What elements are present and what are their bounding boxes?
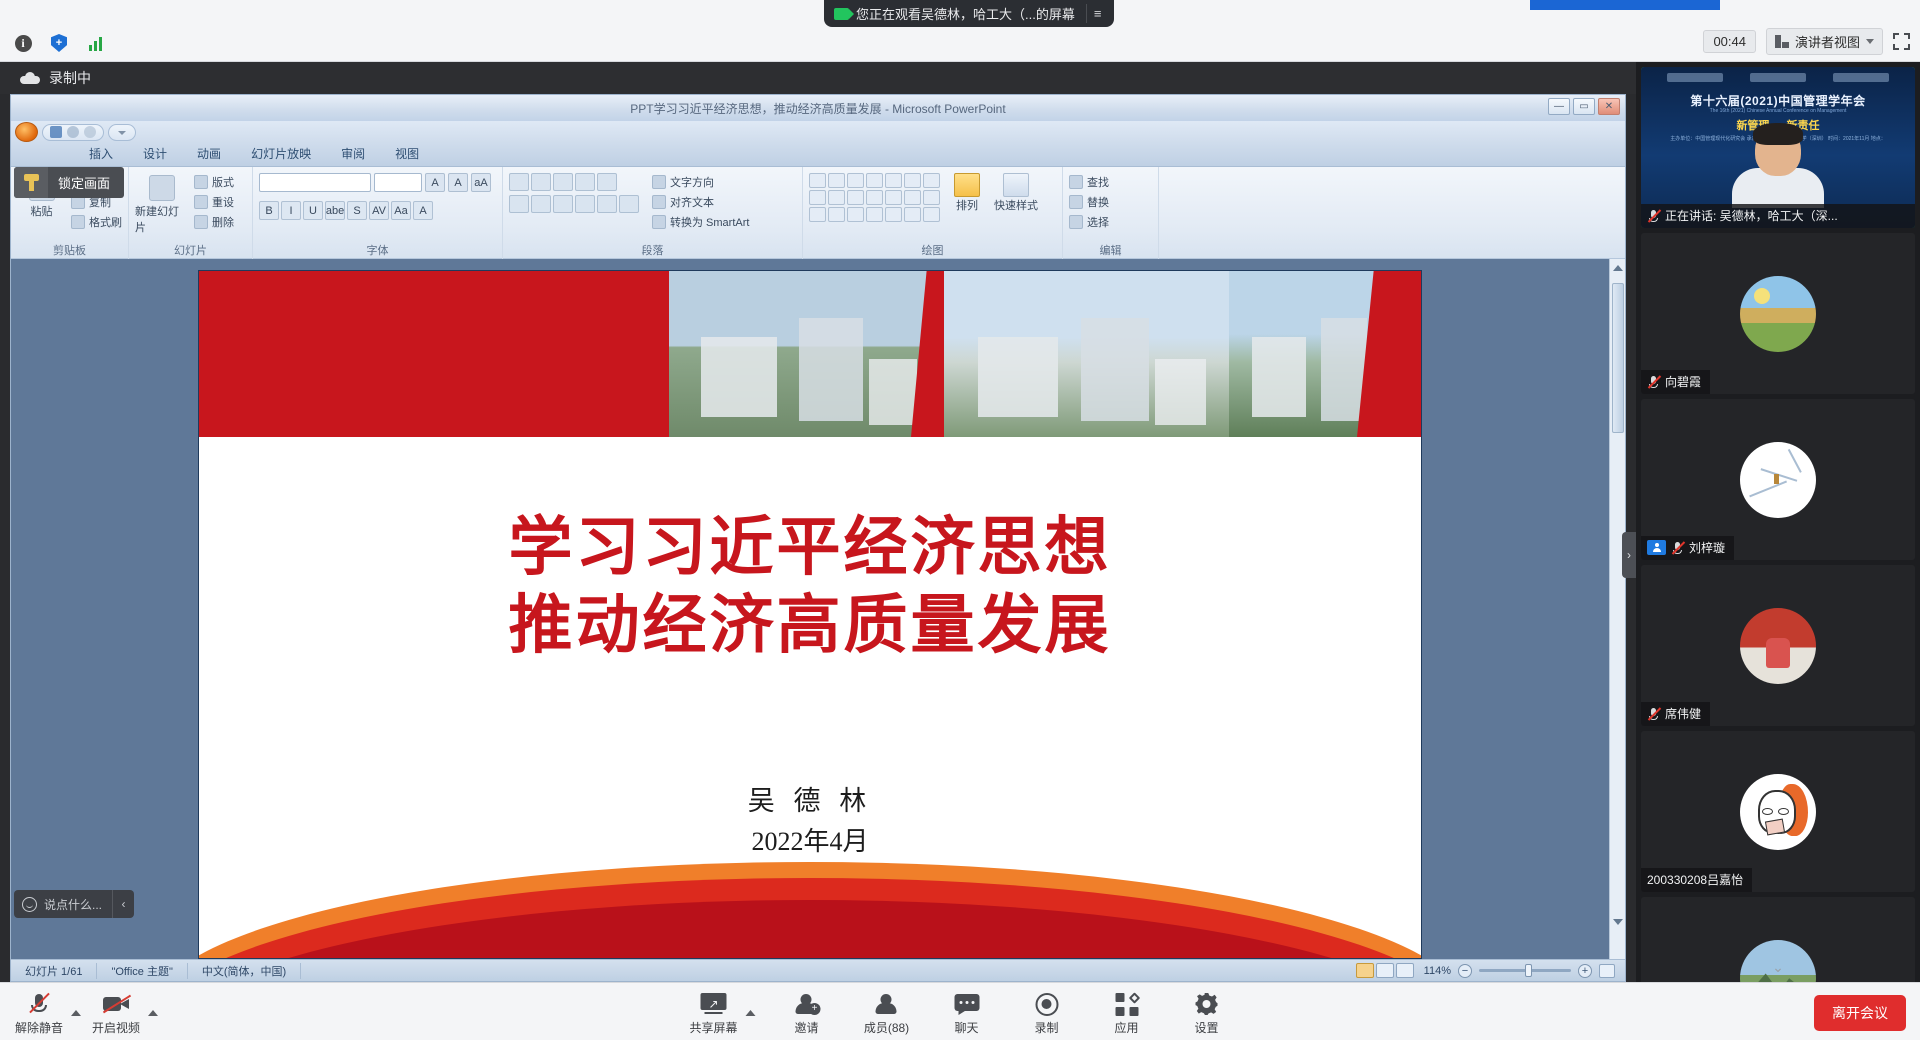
tab-insert[interactable]: 插入 xyxy=(75,142,127,166)
strikethrough-button[interactable]: abe xyxy=(325,201,345,220)
camera-off-icon xyxy=(102,992,130,1016)
quick-chat-collapse-icon[interactable]: ‹ xyxy=(112,890,134,918)
language-indicator[interactable]: 中文(简体，中国) xyxy=(188,963,301,979)
slide-title-line-2: 推动经济高质量发展 xyxy=(199,587,1421,665)
zoom-slider-knob[interactable] xyxy=(1525,964,1532,977)
brush-icon xyxy=(71,215,85,229)
avatar xyxy=(1740,276,1816,352)
lock-screen-label: 锁定画面 xyxy=(48,173,110,192)
settings-button[interactable]: 设置 xyxy=(1178,989,1236,1036)
view-mode-label: 演讲者视图 xyxy=(1795,32,1860,51)
banner-photo-1 xyxy=(669,271,939,437)
quick-access-toolbar xyxy=(11,121,1625,143)
shape-item[interactable] xyxy=(828,207,845,222)
powerpoint-title-bar: PPT学习习近平经济思想，推动经济高质量发展 - Microsoft Power… xyxy=(11,95,1625,121)
shape-item[interactable] xyxy=(866,190,883,205)
gallery-toggle-button[interactable]: › xyxy=(1622,532,1636,578)
slide-vertical-scrollbar[interactable] xyxy=(1609,259,1625,959)
delete-slide-button[interactable]: 删除 xyxy=(194,213,234,230)
zoom-bottom-toolbar: 解除静音 开启视频 ↗ 共享屏幕 xyxy=(0,982,1920,1040)
find-icon xyxy=(1069,175,1083,189)
screen-share-icon xyxy=(834,8,849,20)
participant-tile-active-speaker[interactable]: 第十六届(2021)中国管理学年会 The 16th (2021) Chines… xyxy=(1641,67,1915,228)
ribbon: 粘贴 剪切 复制 xyxy=(11,167,1625,259)
share-notification-bar: 您正在观看吴德林，哈工大（...的屏幕 ≡ xyxy=(824,0,1114,27)
maximize-button[interactable]: ▭ xyxy=(1573,98,1595,115)
select-label: 选择 xyxy=(1087,214,1109,230)
participant-name: 向碧霞 xyxy=(1665,373,1701,390)
underline-button[interactable]: U xyxy=(303,201,323,220)
shape-item[interactable] xyxy=(809,173,826,188)
arrange-icon xyxy=(954,173,980,197)
apps-button[interactable]: 应用 xyxy=(1098,989,1156,1036)
shape-item[interactable] xyxy=(904,173,921,188)
slide-title-line-1: 学习习近平经济思想 xyxy=(199,509,1421,587)
text-direction-button[interactable]: 文字方向 xyxy=(652,173,749,190)
clear-formatting-button[interactable]: aA xyxy=(471,173,491,192)
participants-label: 成员(88) xyxy=(864,1019,909,1036)
audio-options-chevron-icon[interactable] xyxy=(71,1010,81,1016)
new-slide-icon xyxy=(149,175,175,201)
convert-smartart-label: 转换为 SmartArt xyxy=(670,214,749,230)
zoom-control: 114% − + xyxy=(1424,964,1625,978)
video-options-chevron-icon[interactable] xyxy=(148,1010,158,1016)
shape-item[interactable] xyxy=(847,207,864,222)
participant-name-bar: 刘梓璇 xyxy=(1641,536,1734,560)
customize-qat-button[interactable] xyxy=(108,124,136,141)
slide-author: 吴 德 林 xyxy=(199,779,1421,818)
shape-item[interactable] xyxy=(904,190,921,205)
participant-tile[interactable]: 刘梓璇 xyxy=(1641,399,1915,560)
start-video-button[interactable]: 开启视频 xyxy=(87,989,145,1036)
leave-meeting-button[interactable]: 离开会议 xyxy=(1814,995,1906,1031)
shape-item[interactable] xyxy=(923,173,940,188)
ribbon-tabs: 开始 插入 设计 动画 幻灯片放映 审阅 视图 xyxy=(11,143,1625,167)
pin-icon xyxy=(14,167,48,198)
shape-item[interactable] xyxy=(809,190,826,205)
view-mode-selector[interactable]: 演讲者视图 xyxy=(1766,28,1883,55)
banner-photo-2 xyxy=(944,271,1229,437)
font-size-input[interactable] xyxy=(374,173,422,192)
arrange-button[interactable]: 排列 xyxy=(945,173,989,213)
ribbon-group-editing: 查找 替换 选择 编辑 xyxy=(1063,167,1159,259)
shape-item[interactable] xyxy=(828,190,845,205)
align-right-button[interactable] xyxy=(553,195,573,213)
slideshow-icon[interactable] xyxy=(1396,963,1414,978)
av-controls: 解除静音 开启视频 xyxy=(10,989,158,1036)
ribbon-group-drawing: 排列 快速样式 绘图 xyxy=(803,167,1063,259)
change-case-button[interactable]: Aa xyxy=(391,201,411,220)
ribbon-group-font: A A aA B I U abe S AV Aa A xyxy=(253,167,503,259)
shadow-button[interactable]: S xyxy=(347,201,367,220)
close-button[interactable]: ✕ xyxy=(1598,98,1620,115)
participant-tile[interactable]: 向碧霞 xyxy=(1641,233,1915,394)
group-label-clipboard: 剪贴板 xyxy=(11,242,128,258)
recording-label: 录制中 xyxy=(49,68,91,88)
quick-chat-placeholder: 说点什么... xyxy=(44,896,112,913)
find-label: 查找 xyxy=(1087,174,1109,190)
shape-item[interactable] xyxy=(847,190,864,205)
redo-icon[interactable] xyxy=(84,126,96,138)
format-painter-label: 格式刷 xyxy=(89,214,122,230)
shape-item[interactable] xyxy=(828,173,845,188)
powerpoint-status-bar: 幻灯片 1/61 "Office 主题" 中文(简体，中国) 114% − + xyxy=(11,959,1625,981)
slide-footer-wave xyxy=(199,850,1421,958)
zoom-out-button[interactable]: − xyxy=(1458,964,1472,978)
meeting-timer: 00:44 xyxy=(1703,30,1756,53)
view-mode-buttons xyxy=(1356,963,1424,978)
undo-icon[interactable] xyxy=(67,126,79,138)
align-center-button[interactable] xyxy=(531,195,551,213)
replace-icon xyxy=(1069,195,1083,209)
security-shield-icon[interactable]: + xyxy=(44,30,74,56)
slide-canvas[interactable]: 学习习近平经济思想 推动经济高质量发展 吴 德 林 2022年4月 xyxy=(199,271,1421,958)
paragraph-buttons xyxy=(509,173,639,213)
slide-sorter-icon[interactable] xyxy=(1376,963,1394,978)
group-label-editing: 编辑 xyxy=(1063,242,1158,258)
top-bar-right-controls: 00:44 演讲者视图 xyxy=(1703,28,1910,55)
shape-item[interactable] xyxy=(885,207,902,222)
ribbon-group-paragraph: 文字方向 对齐文本 转换为 SmartArt 段落 xyxy=(503,167,803,259)
delete-label: 删除 xyxy=(212,214,234,230)
share-screen-icon: ↗ xyxy=(701,992,727,1016)
invite-label: 邀请 xyxy=(794,1019,818,1036)
zoom-meeting-window: i + 00:44 演讲者视图 您正在观看吴德林，哈工大（...的屏幕 ≡ xyxy=(0,0,1920,1040)
record-icon xyxy=(1035,992,1058,1016)
network-quality-icon[interactable] xyxy=(80,30,110,56)
participant-video-strip: 第十六届(2021)中国管理学年会 The 16th (2021) Chines… xyxy=(1636,62,1920,982)
shape-item[interactable] xyxy=(923,207,940,222)
avatar xyxy=(1740,442,1816,518)
shape-item[interactable] xyxy=(885,190,902,205)
align-left-button[interactable] xyxy=(509,195,529,213)
save-icon[interactable] xyxy=(50,126,62,138)
participant-name: 席伟健 xyxy=(1665,705,1701,722)
group-label-slides: 幻灯片 xyxy=(129,242,252,258)
mic-off-icon xyxy=(1647,707,1660,721)
quick-styles-button[interactable]: 快速样式 xyxy=(994,173,1038,213)
emoji-icon[interactable] xyxy=(14,890,44,918)
reset-button[interactable]: 重设 xyxy=(194,193,234,210)
text-direction-icon xyxy=(652,175,666,189)
reset-label: 重设 xyxy=(212,194,234,210)
group-label-paragraph: 段落 xyxy=(503,242,802,258)
info-icon[interactable]: i xyxy=(8,30,38,56)
start-video-label: 开启视频 xyxy=(92,1019,140,1036)
fullscreen-icon[interactable] xyxy=(1893,33,1910,50)
tab-design[interactable]: 设计 xyxy=(129,142,181,166)
select-icon xyxy=(1069,215,1083,229)
mic-off-icon xyxy=(1647,375,1660,389)
participants-button[interactable]: 成员(88) xyxy=(858,989,916,1036)
layout-button[interactable]: 版式 xyxy=(194,173,234,190)
line-spacing-button[interactable] xyxy=(597,173,617,191)
window-controls: — ▭ ✕ xyxy=(1548,98,1620,115)
quick-styles-label: 快速样式 xyxy=(994,197,1038,213)
slide-title: 学习习近平经济思想 推动经济高质量发展 xyxy=(199,509,1421,665)
participant-tile[interactable]: 200330208吕嘉怡 xyxy=(1641,731,1915,892)
grow-font-button[interactable]: A xyxy=(425,173,445,192)
shrink-font-button[interactable]: A xyxy=(448,173,468,192)
group-label-drawing: 绘图 xyxy=(803,242,1062,258)
select-button[interactable]: 选择 xyxy=(1069,213,1109,230)
video-off-badge-icon xyxy=(1647,540,1666,555)
banner-red-left xyxy=(199,271,739,437)
speaker-view-icon xyxy=(1775,35,1789,48)
chat-label: 聊天 xyxy=(954,1019,978,1036)
zoom-in-button[interactable]: + xyxy=(1578,964,1592,978)
participant-name: 200330208吕嘉怡 xyxy=(1647,871,1743,888)
unmute-label: 解除静音 xyxy=(15,1019,63,1036)
lock-screen-tooltip[interactable]: 锁定画面 xyxy=(14,167,124,198)
quick-access-buttons xyxy=(42,124,104,141)
justify-button[interactable] xyxy=(575,195,595,213)
mic-off-icon xyxy=(1647,209,1660,223)
conference-logos xyxy=(1667,73,1889,82)
ribbon-group-slides: 新建幻灯片 版式 重设 xyxy=(129,167,253,259)
record-button[interactable]: 录制 xyxy=(1018,989,1076,1036)
participant-name-bar: 席伟健 xyxy=(1641,702,1710,726)
shape-item[interactable] xyxy=(904,207,921,222)
recording-indicator: 录制中 xyxy=(0,62,1636,94)
shape-item[interactable] xyxy=(809,207,826,222)
scroll-up-icon[interactable] xyxy=(1613,265,1623,271)
convert-smartart-button[interactable]: 转换为 SmartArt xyxy=(652,213,749,230)
powerpoint-window: PPT学习习近平经济思想，推动经济高质量发展 - Microsoft Power… xyxy=(10,94,1626,982)
scrollbar-thumb[interactable] xyxy=(1612,283,1624,433)
increase-indent-button[interactable] xyxy=(575,173,595,191)
participant-name-bar: 向碧霞 xyxy=(1641,370,1710,394)
participant-name: 刘梓璇 xyxy=(1689,539,1725,556)
zoom-level-label: 114% xyxy=(1424,965,1451,977)
replace-label: 替换 xyxy=(1087,194,1109,210)
bullets-button[interactable] xyxy=(509,173,529,191)
new-slide-label: 新建幻灯片 xyxy=(135,203,189,235)
numbering-button[interactable] xyxy=(531,173,551,191)
share-screen-label: 共享屏幕 xyxy=(689,1019,737,1036)
participant-tile[interactable]: 席伟健 xyxy=(1641,565,1915,726)
chat-icon xyxy=(954,992,979,1016)
paste-label: 粘贴 xyxy=(31,203,53,219)
tab-review[interactable]: 审阅 xyxy=(327,142,379,166)
chevron-down-icon xyxy=(116,126,128,138)
quick-chat-input[interactable]: 说点什么... ‹ xyxy=(14,890,134,918)
delete-icon xyxy=(194,215,208,229)
distribute-button[interactable] xyxy=(619,195,639,213)
arrange-label: 排列 xyxy=(956,197,978,213)
find-button[interactable]: 查找 xyxy=(1069,173,1109,190)
normal-view-icon[interactable] xyxy=(1356,963,1374,978)
shape-item[interactable] xyxy=(923,190,940,205)
strip-scroll-down-icon[interactable]: ⌄ xyxy=(1772,959,1784,976)
bold-button[interactable]: B xyxy=(259,201,279,220)
character-spacing-button[interactable]: AV xyxy=(369,201,389,220)
zoom-slider[interactable] xyxy=(1479,969,1571,972)
tab-slideshow[interactable]: 幻灯片放映 xyxy=(237,142,325,166)
apps-icon xyxy=(1115,992,1138,1016)
format-painter-button[interactable]: 格式刷 xyxy=(71,213,122,230)
settings-gear-icon xyxy=(1196,992,1218,1016)
shared-screen-region: 录制中 PPT学习习近平经济思想，推动经济高质量发展 - Microsoft P… xyxy=(0,62,1636,982)
slide-work-area: 学习习近平经济思想 推动经济高质量发展 吴 德 林 2022年4月 xyxy=(11,259,1625,959)
record-label: 录制 xyxy=(1034,1019,1058,1036)
shape-item[interactable] xyxy=(885,173,902,188)
align-text-button[interactable]: 对齐文本 xyxy=(652,193,749,210)
avatar xyxy=(1740,774,1816,850)
scroll-down-icon[interactable] xyxy=(1613,919,1623,925)
participant-name: 正在讲话: 吴德林，哈工大（深... xyxy=(1665,207,1838,224)
slide-header-banner xyxy=(199,271,1421,437)
font-name-input[interactable] xyxy=(259,173,371,192)
cloud-record-icon xyxy=(20,72,40,84)
italic-button[interactable]: I xyxy=(281,201,301,220)
shape-item[interactable] xyxy=(866,207,883,222)
avatar xyxy=(1740,608,1816,684)
layout-label: 版式 xyxy=(212,174,234,190)
reset-icon xyxy=(194,195,208,209)
quick-styles-icon xyxy=(1003,173,1029,197)
font-color-button[interactable]: A xyxy=(413,201,433,220)
theme-name: "Office 主题" xyxy=(97,963,187,979)
participant-name-bar: 200330208吕嘉怡 xyxy=(1641,868,1752,892)
invite-button[interactable]: + 邀请 xyxy=(778,989,836,1036)
participants-icon xyxy=(875,992,899,1016)
share-notification-menu-button[interactable]: ≡ xyxy=(1086,4,1109,23)
new-slide-button[interactable]: 新建幻灯片 xyxy=(135,173,189,235)
apps-label: 应用 xyxy=(1114,1019,1138,1036)
shapes-gallery[interactable] xyxy=(809,173,940,222)
shape-item[interactable] xyxy=(847,173,864,188)
conference-title: 第十六届(2021)中国管理学年会 xyxy=(1641,92,1915,109)
layout-icon xyxy=(194,175,208,189)
slide-counter: 幻灯片 1/61 xyxy=(11,963,97,979)
mic-off-icon xyxy=(1671,541,1684,555)
speaker-person xyxy=(1732,126,1824,208)
participant-name-bar: 正在讲话: 吴德林，哈工大（深... xyxy=(1641,204,1915,228)
smartart-icon xyxy=(652,215,666,229)
chevron-down-icon xyxy=(1866,39,1874,44)
invite-icon: + xyxy=(795,992,819,1016)
group-label-font: 字体 xyxy=(253,242,502,258)
top-bar-status-icons: i + xyxy=(8,30,110,56)
share-options-chevron-icon[interactable] xyxy=(746,1010,756,1016)
tab-view[interactable]: 视图 xyxy=(381,142,433,166)
align-text-icon xyxy=(652,195,666,209)
share-notification-text: 您正在观看吴德林，哈工大（...的屏幕 xyxy=(856,4,1075,23)
settings-label: 设置 xyxy=(1194,1019,1218,1036)
office-button[interactable] xyxy=(15,122,38,142)
meeting-action-buttons: ↗ 共享屏幕 + 邀请 成员(88) xyxy=(685,989,1236,1036)
replace-button[interactable]: 替换 xyxy=(1069,193,1109,210)
powerpoint-title-text: PPT学习习近平经济思想，推动经济高质量发展 - Microsoft Power… xyxy=(630,100,1005,117)
mic-off-icon xyxy=(28,992,50,1016)
conference-subtitle: The 16th (2021) Chinese Annual Conferenc… xyxy=(1641,108,1915,114)
text-direction-label: 文字方向 xyxy=(670,174,714,190)
tab-animation[interactable]: 动画 xyxy=(183,142,235,166)
shape-item[interactable] xyxy=(866,173,883,188)
columns-button[interactable] xyxy=(597,195,617,213)
decrease-indent-button[interactable] xyxy=(553,173,573,191)
share-screen-button[interactable]: ↗ 共享屏幕 xyxy=(685,989,743,1036)
fit-to-window-icon[interactable] xyxy=(1599,964,1615,978)
chat-button[interactable]: 聊天 xyxy=(938,989,996,1036)
minimize-button[interactable]: — xyxy=(1548,98,1570,115)
align-text-label: 对齐文本 xyxy=(670,194,714,210)
unmute-button[interactable]: 解除静音 xyxy=(10,989,68,1036)
taskbar-blue-strip xyxy=(1530,0,1720,10)
